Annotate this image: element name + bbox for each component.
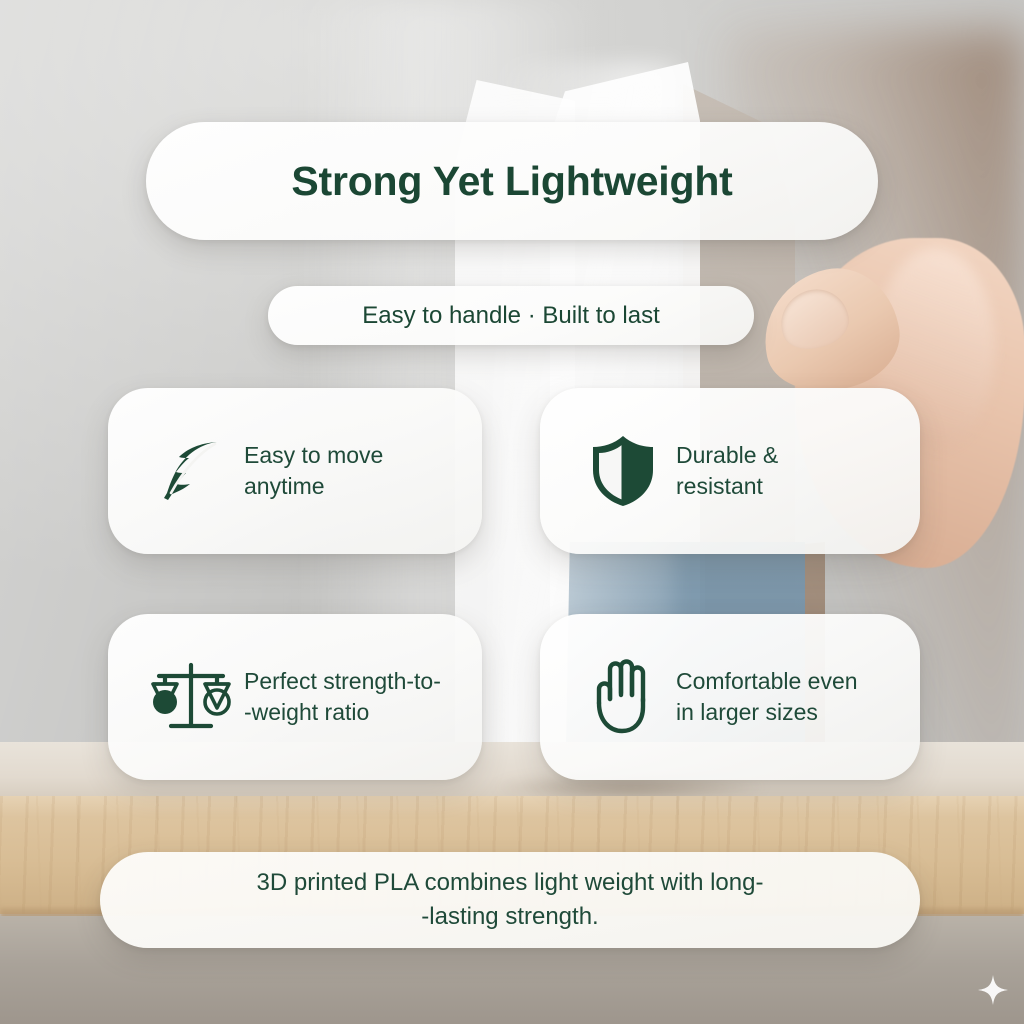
feather-icon (148, 428, 234, 514)
feature-card-comfortable[interactable]: Comfortable even in larger sizes (540, 614, 920, 780)
footer-text-line2: -lasting strength. (421, 900, 598, 934)
shield-icon (580, 428, 666, 514)
feature-label-line2: in larger sizes (676, 697, 858, 728)
page-title: Strong Yet Lightweight (291, 158, 732, 205)
feature-card-easy-to-move[interactable]: Easy to move anytime (108, 388, 482, 554)
feature-label-line2: -weight ratio (244, 697, 441, 728)
feature-label-line1: Durable & (676, 442, 778, 468)
feature-label: Perfect strength-to- -weight ratio (244, 666, 441, 729)
feature-label: Easy to move anytime (244, 440, 383, 503)
subtitle-pill: Easy to handle · Built to last (268, 286, 754, 345)
feature-label-line1: Easy to move (244, 442, 383, 468)
footer-pill: 3D printed PLA combines light weight wit… (100, 852, 920, 948)
open-hand-icon (580, 654, 666, 740)
infographic-stage: Strong Yet Lightweight Easy to handle · … (0, 0, 1024, 1024)
sparkle-icon (978, 975, 1008, 1005)
feature-label-line1: Comfortable even (676, 668, 858, 694)
title-pill: Strong Yet Lightweight (146, 122, 878, 240)
feature-card-strength-to-weight[interactable]: Perfect strength-to- -weight ratio (108, 614, 482, 780)
feature-label-line2: resistant (676, 471, 778, 502)
feature-label-line2: anytime (244, 471, 383, 502)
feature-label-line1: Perfect strength-to- (244, 668, 441, 694)
page-subtitle: Easy to handle · Built to last (362, 302, 660, 330)
footer-text-line1: 3D printed PLA combines light weight wit… (257, 866, 764, 900)
feature-label: Durable & resistant (676, 440, 778, 503)
feature-card-durable[interactable]: Durable & resistant (540, 388, 920, 554)
feature-label: Comfortable even in larger sizes (676, 666, 858, 729)
balance-scale-icon (148, 654, 234, 740)
